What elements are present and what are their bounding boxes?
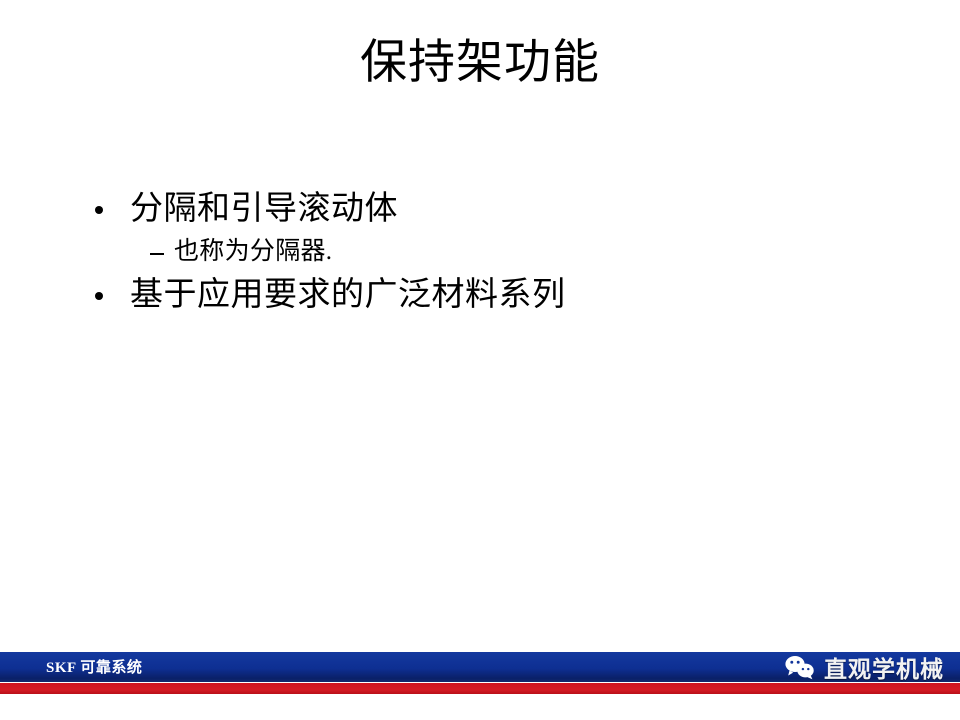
bullet-dot-icon bbox=[95, 292, 103, 300]
wechat-icon bbox=[783, 654, 817, 680]
bullet-dot-icon bbox=[95, 206, 103, 214]
bullet-text: 分隔和引导滚动体 bbox=[130, 191, 398, 227]
footer-label: SKF 可靠系统 bbox=[46, 656, 142, 677]
slide-body-list: 分隔和引导滚动体 也称为分隔器. 基于应用要求的广泛材料系列 bbox=[88, 186, 888, 318]
slide-title: 保持架功能 bbox=[0, 36, 960, 90]
bullet-item-level1: 分隔和引导滚动体 bbox=[88, 186, 888, 232]
footer-brand: 直观学机械 bbox=[783, 652, 944, 682]
footer-red-band bbox=[0, 683, 960, 694]
slide-footer: SKF 可靠系统 直观学机械 bbox=[0, 652, 960, 694]
bullet-item-level2: 也称为分隔器. bbox=[148, 232, 888, 272]
bullet-text: 也称为分隔器. bbox=[174, 238, 332, 265]
bullet-text: 基于应用要求的广泛材料系列 bbox=[130, 277, 566, 313]
en-dash-icon bbox=[150, 253, 164, 255]
presentation-slide: 保持架功能 分隔和引导滚动体 也称为分隔器. 基于应用要求的广泛材料系列 SKF… bbox=[0, 0, 960, 720]
footer-brand-text: 直观学机械 bbox=[824, 650, 944, 684]
bullet-item-level1: 基于应用要求的广泛材料系列 bbox=[88, 272, 888, 318]
